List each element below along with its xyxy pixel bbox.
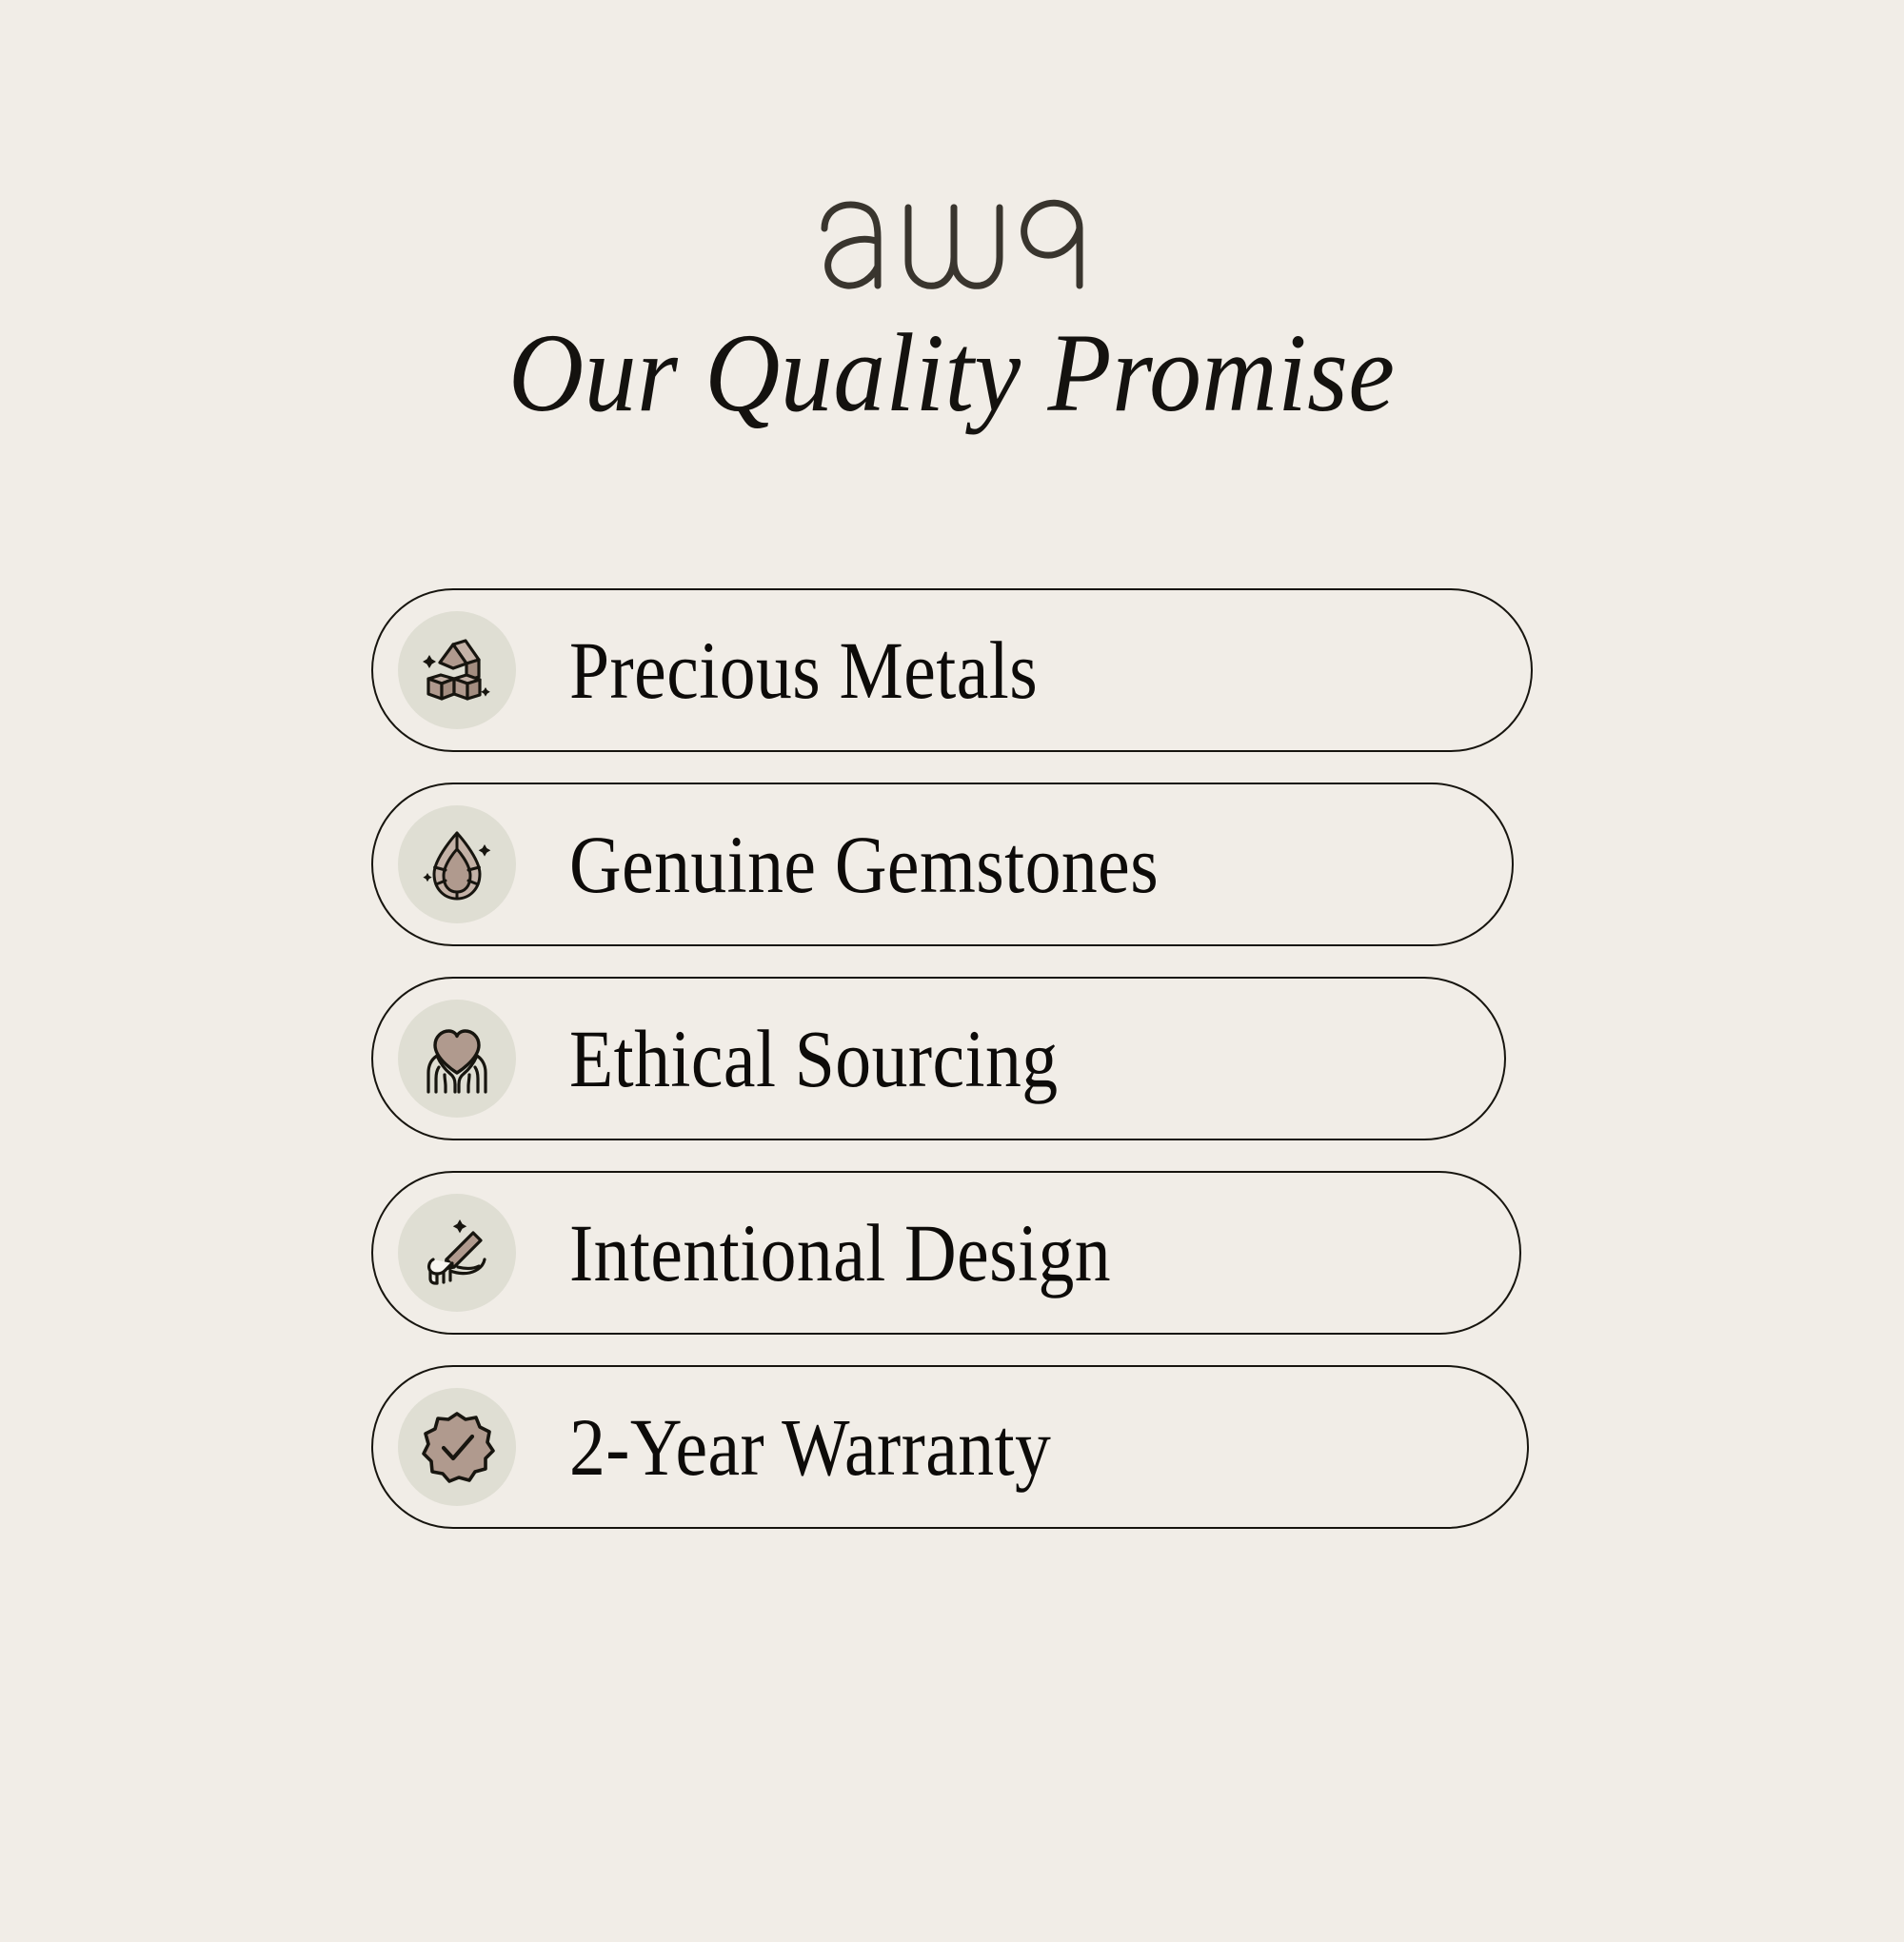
- promise-item-intentional-design[interactable]: Intentional Design: [371, 1171, 1521, 1335]
- promise-label: Precious Metals: [569, 629, 1038, 711]
- awe-wordmark-logo: [809, 187, 1095, 291]
- promise-item-warranty[interactable]: 2-Year Warranty: [371, 1365, 1529, 1529]
- promise-list: Precious Metals: [371, 588, 1533, 1529]
- hand-with-pen-icon: [398, 1194, 516, 1312]
- promise-item-genuine-gemstones[interactable]: Genuine Gemstones: [371, 783, 1514, 946]
- promise-card: Our Quality Promise: [0, 0, 1904, 1942]
- promise-label: Genuine Gemstones: [569, 823, 1159, 905]
- promise-label: Ethical Sourcing: [569, 1018, 1059, 1100]
- gemstone-icon: [398, 805, 516, 923]
- promise-label: 2-Year Warranty: [569, 1406, 1051, 1488]
- promise-item-ethical-sourcing[interactable]: Ethical Sourcing: [371, 977, 1506, 1140]
- promise-label: Intentional Design: [569, 1212, 1111, 1294]
- gold-bars-icon: [398, 611, 516, 729]
- verified-badge-icon: [398, 1388, 516, 1506]
- hands-holding-heart-icon: [398, 1000, 516, 1118]
- promise-item-precious-metals[interactable]: Precious Metals: [371, 588, 1533, 752]
- page-title: Our Quality Promise: [508, 312, 1395, 433]
